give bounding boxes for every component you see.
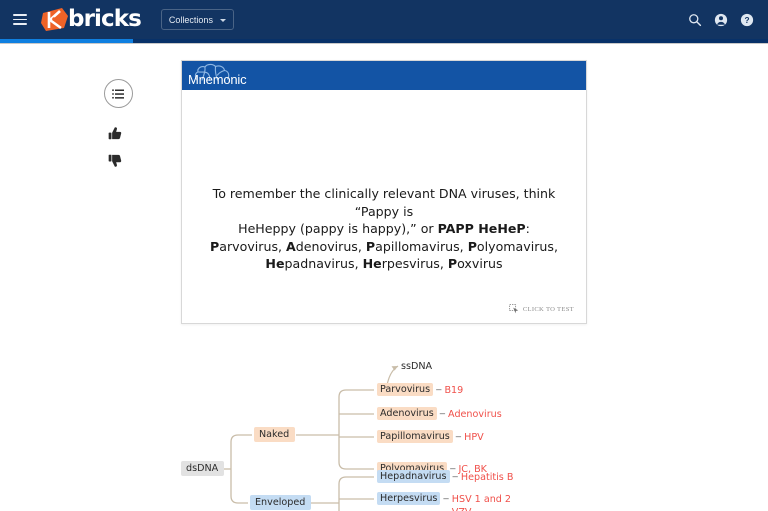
leaf-name-papillomavirus: Papillomavirus xyxy=(377,430,453,443)
list-icon xyxy=(112,89,125,99)
mindmap-leaf-hepadnavirus[interactable]: Hepadnavirus – Hepatitis B xyxy=(377,470,513,484)
leaf-dash-0: – xyxy=(433,383,444,396)
leaf-dash-4: – xyxy=(450,470,461,483)
top-navigation-bar: bricks Collections ? xyxy=(0,0,768,39)
collections-dropdown[interactable]: Collections xyxy=(161,9,234,30)
click-to-test-label: CLICK TO TEST xyxy=(523,306,574,313)
mnemonic-card: Mnemonic To remember the clinically rele… xyxy=(181,60,587,324)
mnemonic-card-body: To remember the clinically relevant DNA … xyxy=(182,90,586,324)
mnemonic-text: To remember the clinically relevant DNA … xyxy=(196,185,572,273)
virus-letter-p1: P xyxy=(210,239,219,254)
chevron-down-icon xyxy=(220,19,226,22)
account-icon[interactable] xyxy=(714,13,728,27)
virus-classification-mindmap: ssDNA dsDNA Naked Enveloped Parvovirus –… xyxy=(0,352,768,511)
svg-text:?: ? xyxy=(744,15,749,25)
leaf-disease-herpesvirus: HSV 1 and 2 VZV xyxy=(452,492,511,511)
virus-letter-p4: P xyxy=(448,256,457,271)
mindmap-branch-naked[interactable]: Naked xyxy=(254,428,295,441)
collections-label: Collections xyxy=(169,15,213,25)
virus-letter-p2: P xyxy=(366,239,375,254)
bricks-logo-icon xyxy=(40,7,70,33)
help-icon[interactable]: ? xyxy=(740,13,754,27)
hamburger-icon[interactable] xyxy=(13,14,27,25)
brand-logo[interactable]: bricks xyxy=(40,0,141,39)
mnemonic-card-header: Mnemonic xyxy=(182,61,586,90)
mindmap-leaf-parvovirus[interactable]: Parvovirus – B19 xyxy=(377,383,463,397)
leaf-disease-parvovirus: B19 xyxy=(444,383,463,397)
mnemonic-acronym: PAPP HeHeP xyxy=(438,221,526,236)
virus-letter-he2: He xyxy=(363,256,382,271)
action-rail xyxy=(104,79,134,168)
nav-actions: ? xyxy=(688,13,754,27)
leaf-name-hepadnavirus: Hepadnavirus xyxy=(377,470,450,483)
thumbs-up-icon[interactable] xyxy=(108,126,123,141)
brand-logo-text: bricks xyxy=(68,8,141,31)
mnemonic-title: Mnemonic xyxy=(188,72,246,87)
leaf-dash-2: – xyxy=(453,430,464,443)
mindmap-leaf-herpesvirus[interactable]: Herpesvirus – HSV 1 and 2 VZV xyxy=(377,492,511,511)
click-to-test-button[interactable]: CLICK TO TEST xyxy=(509,304,574,314)
leaf-disease-hepadnavirus: Hepatitis B xyxy=(461,470,514,484)
leaf-name-parvovirus: Parvovirus xyxy=(377,383,433,396)
leaf-dash-5: – xyxy=(440,492,451,505)
click-to-test-icon xyxy=(509,304,519,314)
ssdna-arrowhead xyxy=(392,366,399,371)
leaf-name-herpesvirus: Herpesvirus xyxy=(377,492,440,505)
branch-naked-label: Naked xyxy=(254,427,295,442)
list-view-button[interactable] xyxy=(104,79,133,108)
search-icon[interactable] xyxy=(688,13,702,27)
virus-letter-p3: P xyxy=(468,239,477,254)
mindmap-branch-enveloped[interactable]: Enveloped xyxy=(250,496,311,509)
thumbs-down-icon[interactable] xyxy=(108,153,123,168)
ssdna-label: ssDNA xyxy=(401,361,432,372)
mindmap-leaf-adenovirus[interactable]: Adenovirus – Adenovirus xyxy=(377,407,502,421)
virus-letter-a: A xyxy=(286,239,296,254)
mindmap-leaf-papillomavirus[interactable]: Papillomavirus – HPV xyxy=(377,430,484,444)
leaf-name-adenovirus: Adenovirus xyxy=(377,407,437,420)
page-divider xyxy=(0,43,768,44)
root-node-label: dsDNA xyxy=(181,461,224,476)
mindmap-root-node[interactable]: dsDNA xyxy=(181,462,224,475)
virus-letter-he1: He xyxy=(265,256,284,271)
branch-enveloped-label: Enveloped xyxy=(250,495,311,510)
leaf-disease-papillomavirus: HPV xyxy=(464,430,484,444)
mnemonic-line-1: To remember the clinically relevant DNA … xyxy=(213,186,556,219)
leaf-disease-adenovirus: Adenovirus xyxy=(448,407,502,421)
leaf-dash-1: – xyxy=(437,407,448,420)
